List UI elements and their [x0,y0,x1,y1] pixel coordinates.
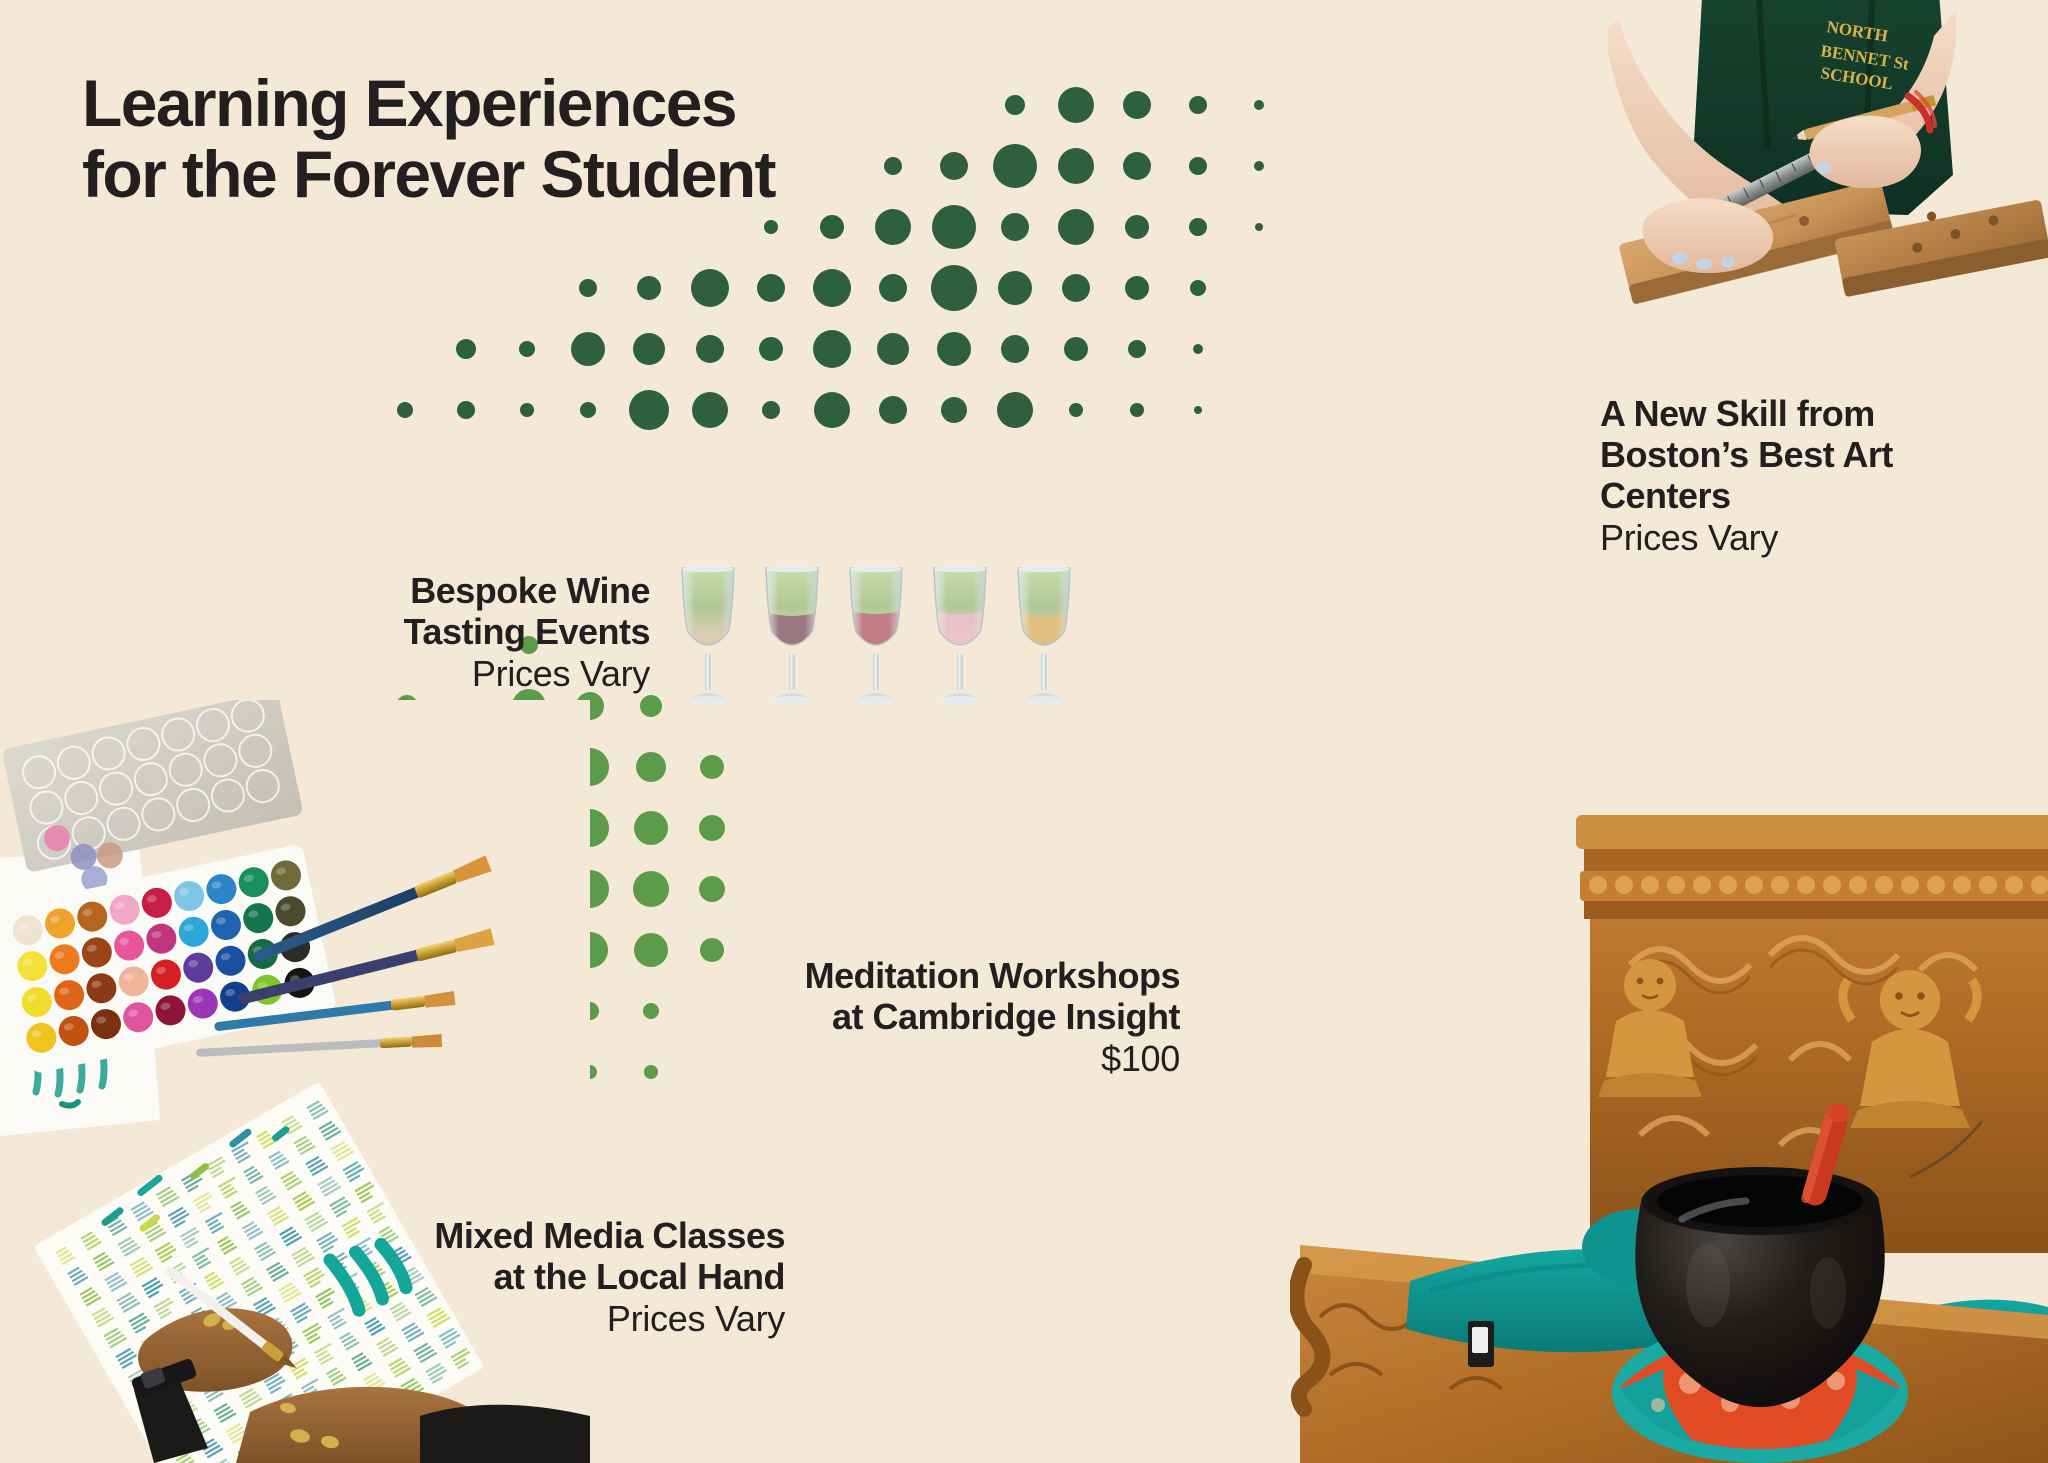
poster-canvas: Learning Experiences for the Forever Stu… [0,0,2048,1463]
caption-title-art-centers: A New Skill from Boston’s Best Art Cente… [1600,393,2000,516]
caption-price-wine-tasting: Prices Vary [310,652,650,695]
caption-price-mixed-media: Prices Vary [400,1297,785,1340]
caption-title-mixed-media: Mixed Media Classes at the Local Hand [400,1215,785,1297]
caption-mixed-media: Mixed Media Classes at the Local Hand Pr… [400,1215,785,1340]
wine-glasses-photo [666,560,1096,705]
woodworking-class-photo: NORTH BENNET St SCHOOL [1608,0,2048,345]
singing-bowl-photo [1290,815,2048,1463]
caption-meditation: Meditation Workshops at Cambridge Insigh… [780,955,1180,1080]
caption-title-wine-tasting: Bespoke Wine Tasting Events [310,570,650,652]
caption-wine-tasting: Bespoke Wine Tasting Events Prices Vary [310,570,650,695]
caption-price-art-centers: Prices Vary [1600,516,2000,559]
page-title: Learning Experiences for the Forever Stu… [82,68,775,209]
caption-price-meditation: $100 [780,1037,1180,1080]
caption-art-centers: A New Skill from Boston’s Best Art Cente… [1600,393,2000,559]
caption-title-meditation: Meditation Workshops at Cambridge Insigh… [780,955,1180,1037]
watercolor-palette-photo [0,700,590,1463]
